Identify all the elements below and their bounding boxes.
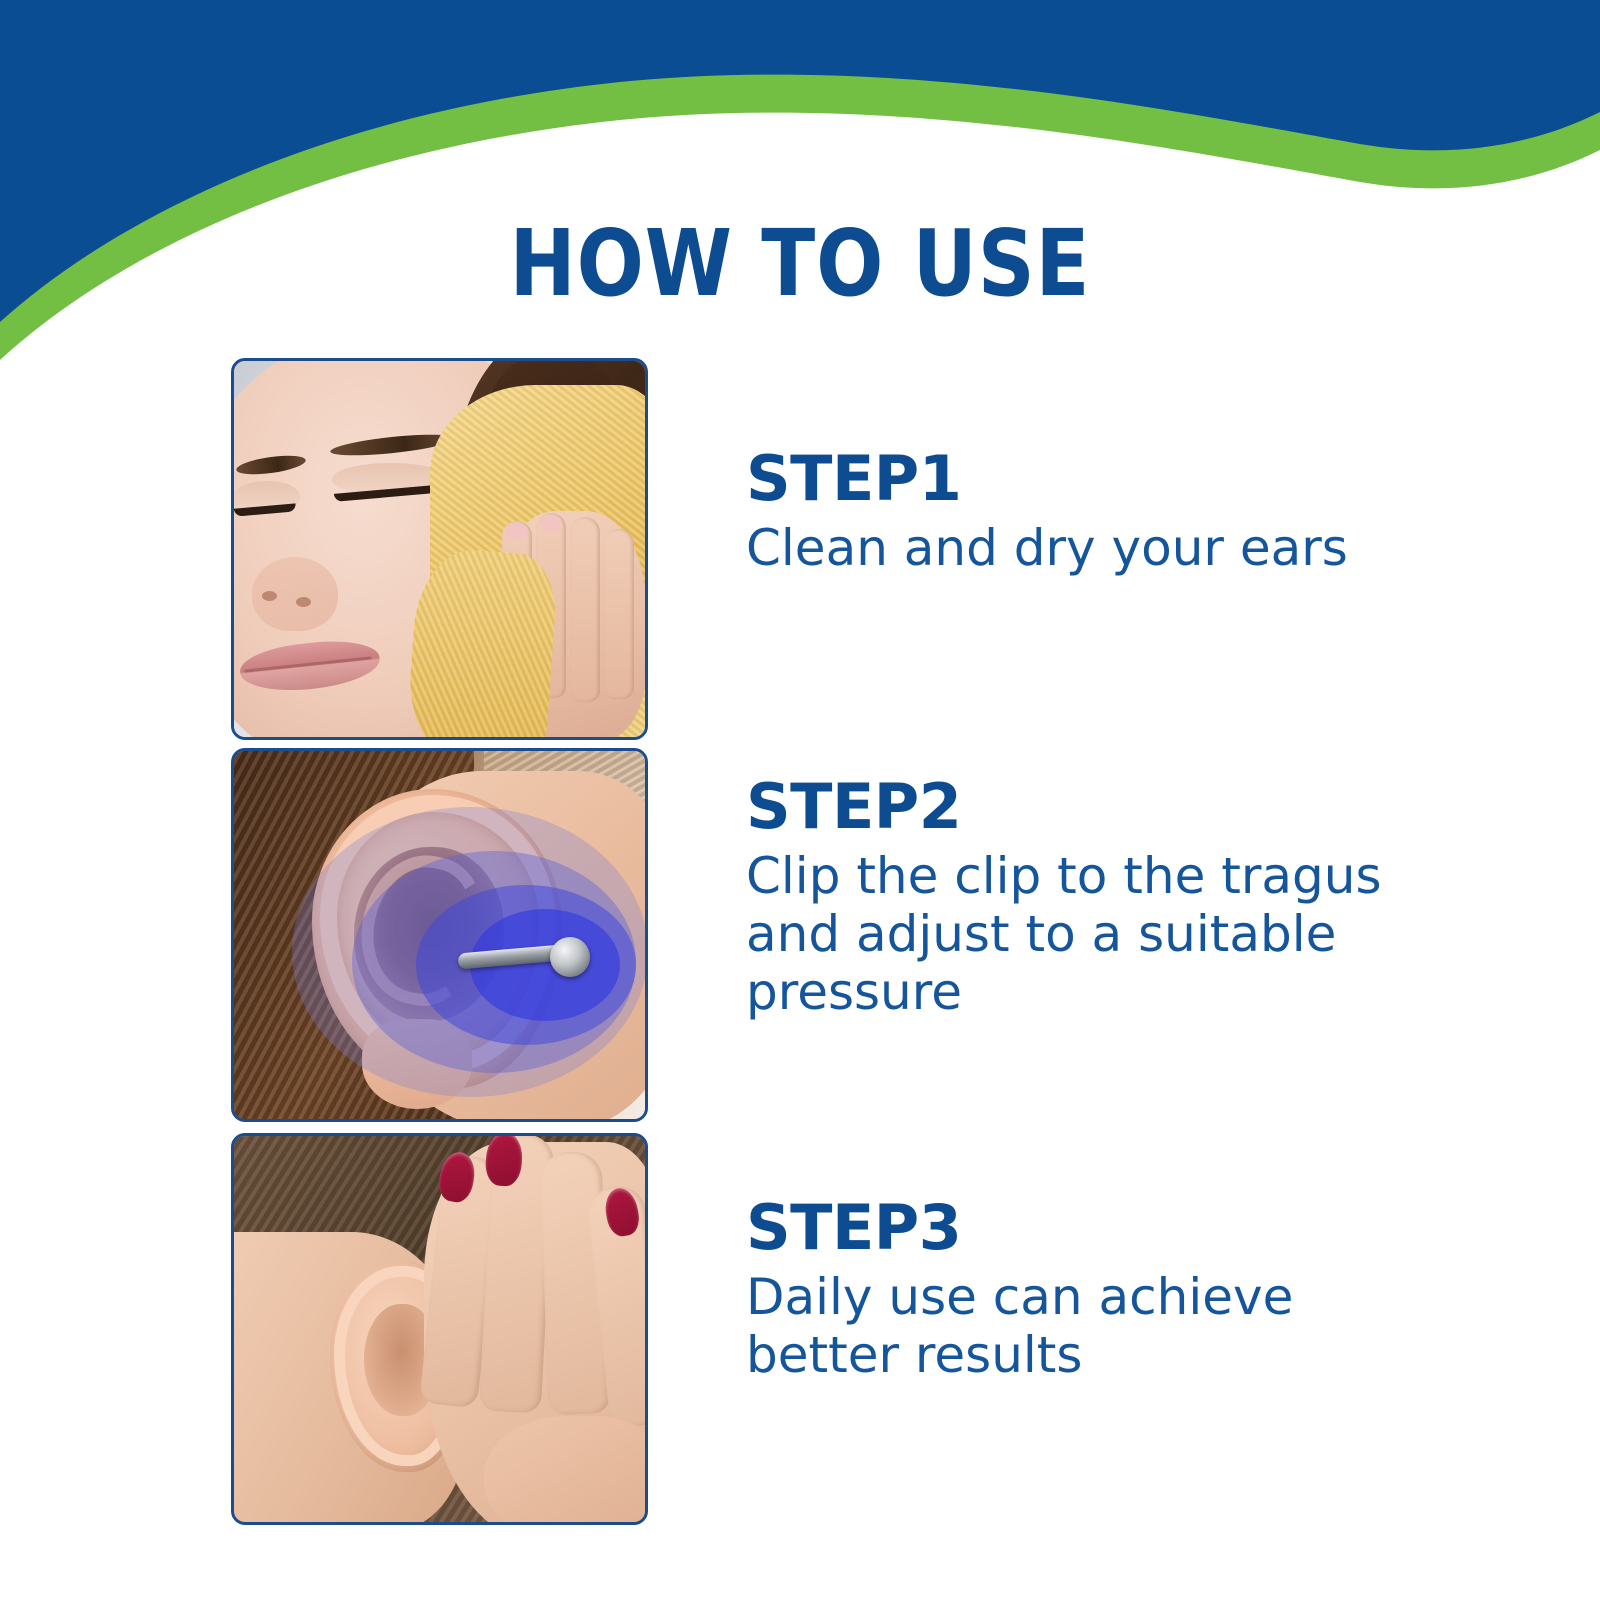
photo3-palm bbox=[484, 1416, 645, 1522]
step-text-block-1: STEP1 Clean and dry your ears bbox=[746, 446, 1446, 577]
step-text-block-3: STEP3 Daily use can achieve better resul… bbox=[746, 1195, 1446, 1384]
hand-cupping-ear-photo bbox=[234, 1136, 645, 1522]
step-row: STEP3 Daily use can achieve better resul… bbox=[0, 1133, 1600, 1525]
step-photo-card-3[interactable] bbox=[231, 1133, 648, 1525]
photo1-fingernail bbox=[540, 515, 562, 531]
page-title: HOW TO USE bbox=[112, 218, 1488, 310]
step-description: Clip the clip to the tragus and adjust t… bbox=[746, 847, 1386, 1021]
step-text-block-2: STEP2 Clip the clip to the tragus and ad… bbox=[746, 774, 1446, 1021]
photo1-fingernail bbox=[506, 523, 528, 539]
photo2-earlobe bbox=[362, 1019, 472, 1109]
photo2-ear-clip-head bbox=[550, 937, 590, 977]
step-photo-card-1[interactable] bbox=[231, 358, 648, 740]
ear-with-clip-and-sound-waves-photo bbox=[234, 751, 645, 1119]
step-description: Clean and dry your ears bbox=[746, 519, 1386, 577]
step-heading: STEP3 bbox=[746, 1195, 1446, 1260]
photo1-nostril-right bbox=[296, 597, 311, 607]
step-description: Daily use can achieve better results bbox=[746, 1268, 1386, 1384]
step-heading: STEP1 bbox=[746, 446, 1446, 511]
step-photo-card-2[interactable] bbox=[231, 748, 648, 1122]
step-row: STEP2 Clip the clip to the tragus and ad… bbox=[0, 748, 1600, 1122]
woman-drying-ear-with-yellow-towel-photo bbox=[234, 361, 645, 737]
step-heading: STEP2 bbox=[746, 774, 1446, 839]
step-row: STEP1 Clean and dry your ears bbox=[0, 358, 1600, 740]
photo1-nostril-left bbox=[262, 591, 277, 601]
